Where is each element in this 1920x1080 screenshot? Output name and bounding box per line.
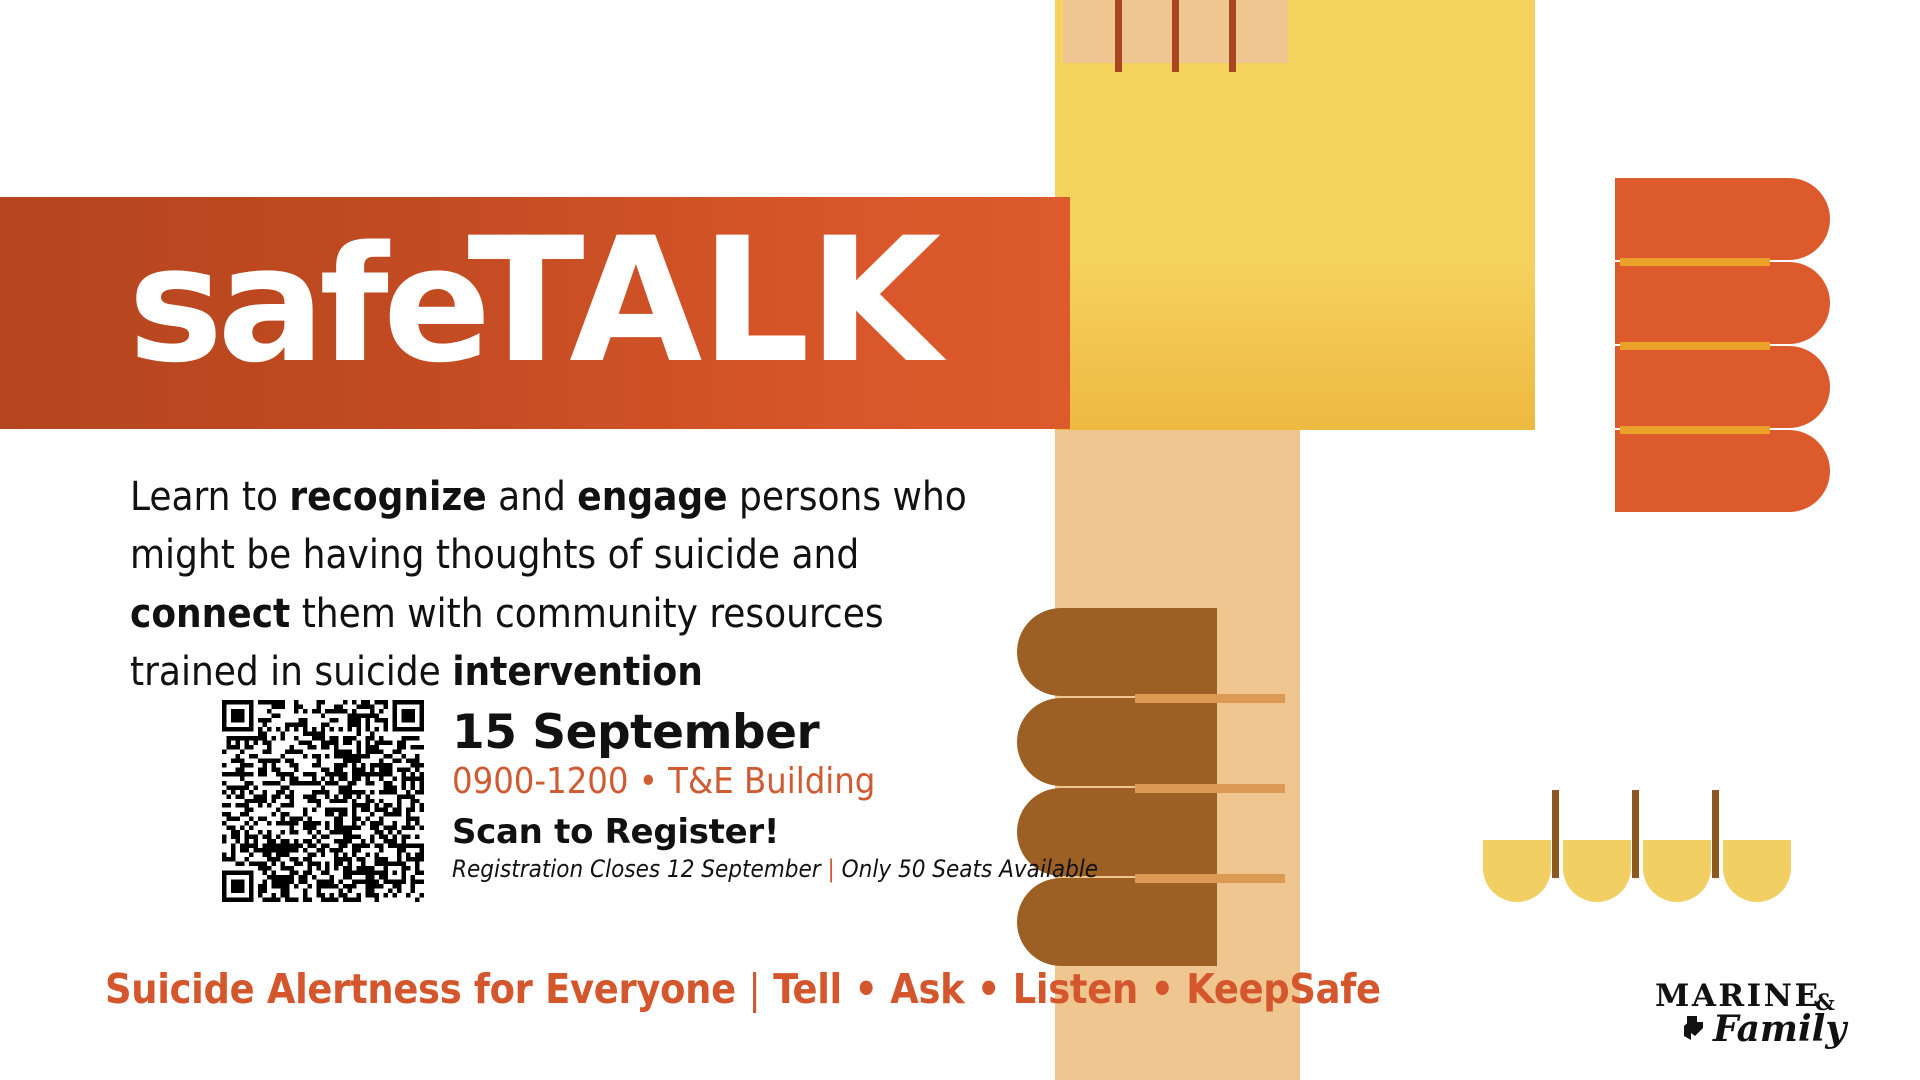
tan-knuckle-line [1172, 0, 1179, 72]
registration-note-left: Registration Closes 12 September [452, 855, 828, 883]
title-talk: TALK [467, 200, 939, 401]
tagline: Suicide Alertness for Everyone | Tell • … [105, 965, 1381, 1013]
yellow-knuckle-line [1552, 790, 1559, 878]
brown-finger [1017, 698, 1217, 786]
orange-finger [1615, 430, 1830, 512]
event-details: 15 September 0900-1200 • T&E Building Sc… [452, 708, 1012, 883]
yellow-knuckle-line [1712, 790, 1719, 878]
tan-knuckle-line [1115, 0, 1122, 72]
tagline-right: Tell • Ask • Listen • KeepSafe [761, 965, 1381, 1013]
page-title: safeTALK [128, 215, 939, 415]
registration-note: Registration Closes 12 September | Only … [452, 855, 1012, 883]
event-time-location: 0900-1200 • T&E Building [452, 760, 1012, 804]
brown-knuckle-line [1135, 784, 1285, 793]
yellow-finger [1483, 840, 1551, 902]
eagle-globe-anchor-icon [1683, 1014, 1709, 1044]
tan-finger [1063, 0, 1117, 63]
tan-knuckle-line [1229, 0, 1236, 72]
orange-finger [1615, 262, 1830, 344]
marine-and-family-logo: MARINE & Family [1655, 978, 1880, 1056]
description-emphasis: engage [577, 474, 727, 520]
brown-finger [1017, 608, 1217, 696]
description-emphasis: recognize [289, 474, 486, 520]
description-text: Learn to [130, 474, 289, 520]
tan-finger [1234, 0, 1288, 63]
brown-finger [1017, 878, 1217, 966]
orange-finger [1615, 178, 1830, 260]
brown-knuckle-line [1135, 694, 1285, 703]
yellow-finger [1563, 840, 1631, 902]
description-text: and [487, 474, 578, 520]
four-hands-illustration [1055, 0, 1920, 1080]
description-paragraph: Learn to recognize and engage persons wh… [130, 468, 1010, 702]
tan-finger [1177, 0, 1231, 63]
yellow-arm-top [1055, 0, 1535, 430]
event-date: 15 September [452, 708, 1012, 758]
orange-knuckle-line [1620, 258, 1770, 266]
qr-code[interactable] [222, 700, 424, 902]
qr-code-canvas[interactable] [222, 700, 424, 902]
yellow-finger [1723, 840, 1791, 902]
orange-knuckle-line [1620, 342, 1770, 350]
tagline-left: Suicide Alertness for Everyone [105, 965, 748, 1013]
logo-family-text: Family [1713, 1008, 1846, 1050]
yellow-finger [1643, 840, 1711, 902]
yellow-knuckle-line [1632, 790, 1639, 878]
brown-knuckle-line [1135, 874, 1285, 883]
registration-note-separator: | [828, 855, 835, 883]
tan-finger [1120, 0, 1174, 63]
scan-to-register-label: Scan to Register! [452, 812, 1012, 852]
description-emphasis: connect [130, 591, 290, 637]
description-emphasis: intervention [452, 649, 703, 695]
registration-note-right: Only 50 Seats Available [835, 855, 1098, 883]
tagline-separator: | [748, 965, 760, 1013]
poster-canvas: safeTALK Learn to recognize and engage p… [0, 0, 1920, 1080]
title-safe: safe [128, 211, 485, 398]
orange-knuckle-line [1620, 426, 1770, 434]
orange-finger [1615, 346, 1830, 428]
